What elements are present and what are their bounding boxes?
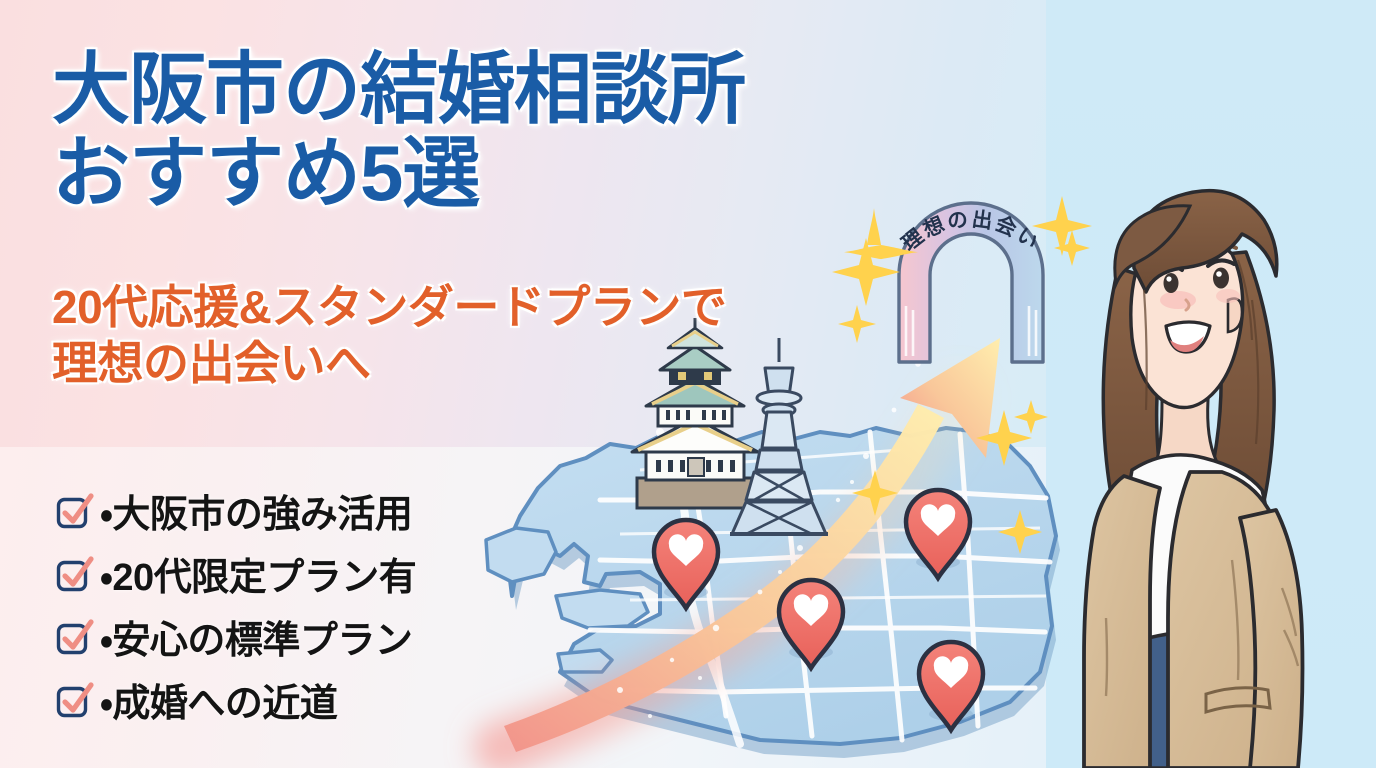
list-item-label: ・成婚への近道	[100, 672, 337, 727]
sparkle-icon	[1032, 196, 1092, 256]
sparkle-icon	[1054, 230, 1090, 266]
banner-canvas: 理想の出会い	[0, 0, 1376, 768]
headline-line-2: おすすめ5選	[52, 136, 992, 210]
headline-block: 大阪市の結婚相談所 おすすめ5選	[52, 52, 992, 210]
subheadline-line-1: 20代応援&スタンダードプランで	[52, 283, 952, 333]
list-item-label: ・大阪市の強み活用	[100, 483, 412, 538]
checkbox-checked-icon	[56, 556, 94, 592]
list-item-label: ・20代限定プラン有	[100, 546, 416, 601]
checkbox-checked-icon	[56, 682, 94, 718]
subheadline-line-2: 理想の出会いへ	[52, 339, 952, 389]
headline-line-1: 大阪市の結婚相談所	[52, 52, 992, 126]
list-item: ・20代限定プラン有	[56, 545, 416, 602]
checkbox-checked-icon	[56, 619, 94, 655]
feature-checklist: ・大阪市の強み活用 ・20代限定プラン有 ・安心の標準プラン	[56, 482, 416, 734]
list-item: ・安心の標準プラン	[56, 608, 416, 665]
sparkle-icon	[1014, 400, 1048, 434]
list-item-label: ・安心の標準プラン	[100, 609, 412, 664]
subheadline-block: 20代応援&スタンダードプランで 理想の出会いへ	[52, 283, 952, 388]
arch-label: 理想の出会い	[898, 208, 1045, 256]
list-item: ・成婚への近道	[56, 671, 416, 728]
checkbox-checked-icon	[56, 493, 94, 529]
list-item: ・大阪市の強み活用	[56, 482, 416, 539]
